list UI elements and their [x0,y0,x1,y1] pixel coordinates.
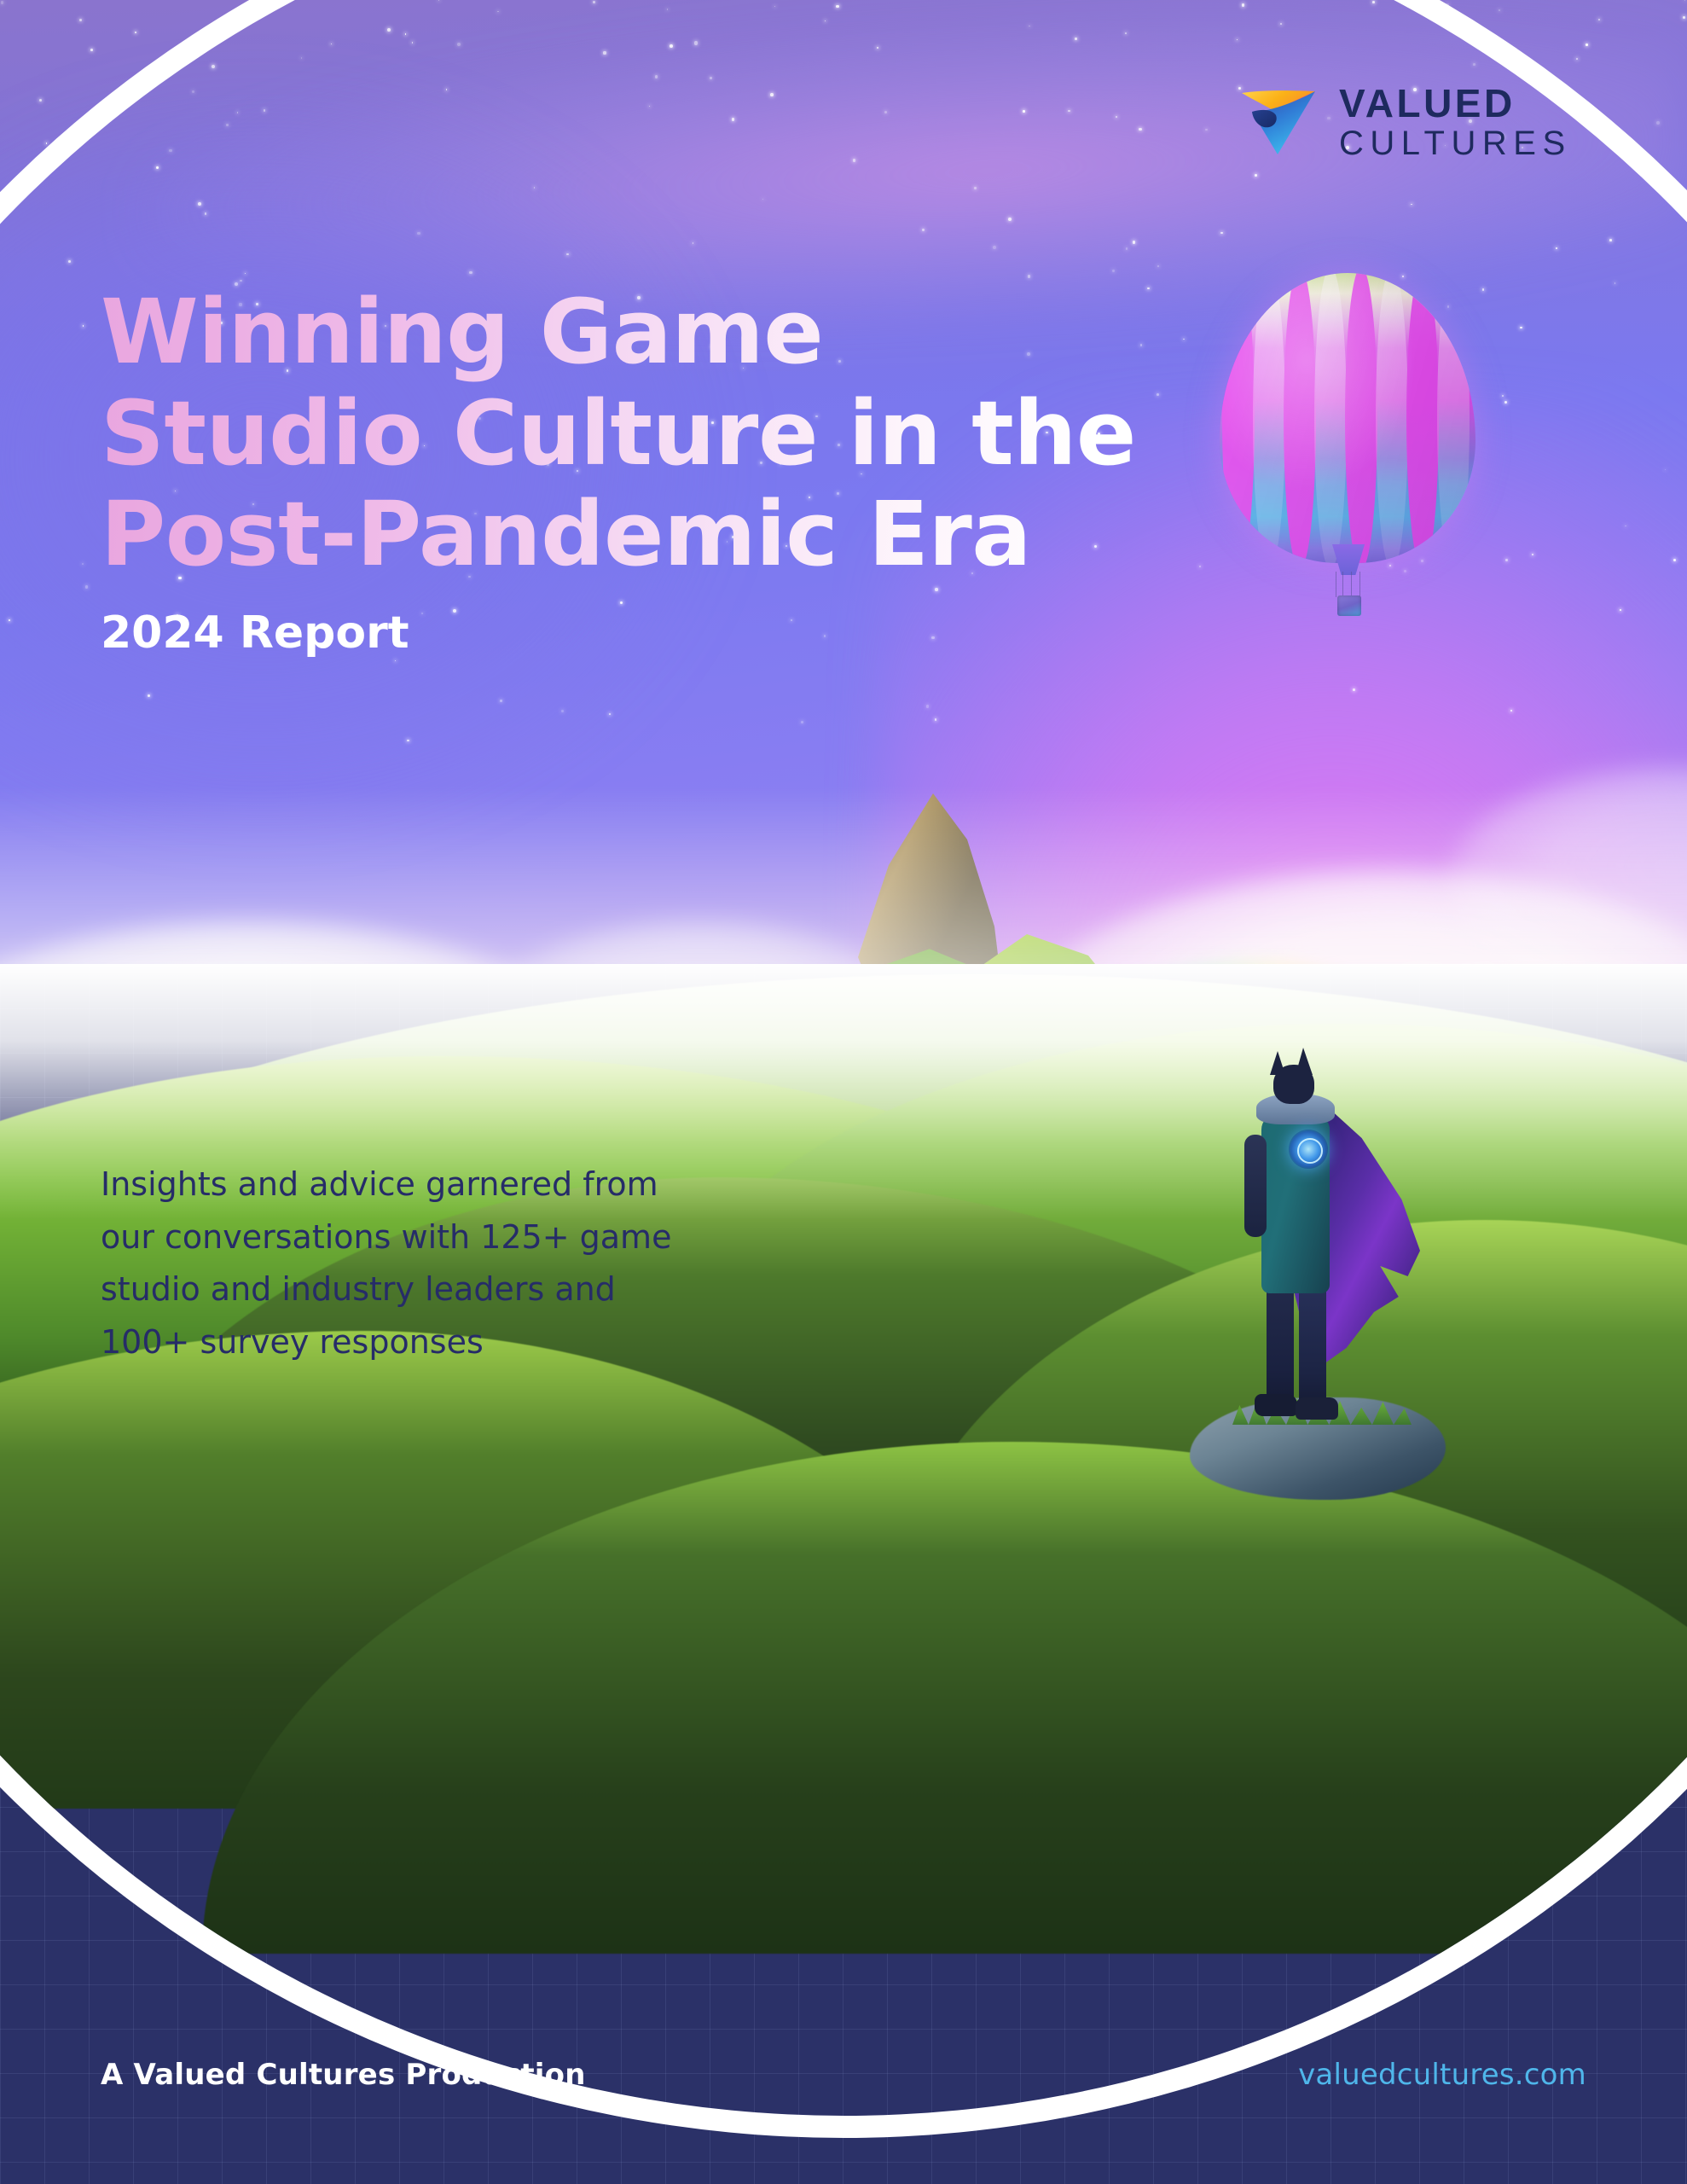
hero-character [1207,1041,1403,1570]
hero-boot-left [1255,1394,1297,1416]
logo-text-cultures: CULTURES [1339,126,1572,160]
page-title-line-3: Post-Pandemic Era [101,484,1312,585]
hero-boot-right [1296,1397,1338,1420]
cover-footer: A Valued Cultures Production valuedcultu… [0,2058,1687,2092]
hero-leg-right [1299,1281,1326,1411]
page-title-line-1: Winning Game [101,282,1312,383]
brand-logo[interactable]: VALUED CULTURES [1238,84,1572,160]
page-title-line-2: Studio Culture in the [101,383,1312,485]
hero-emblem-ring [1297,1138,1323,1164]
hero-head [1273,1065,1314,1104]
production-credit: A Valued Cultures Production [101,2058,586,2092]
cover-blurb: Insights and advice garnered from our co… [101,1159,698,1368]
valued-cultures-arrow-logo-icon [1238,86,1320,158]
hero-leg-left [1267,1280,1294,1408]
title-block: Winning Game Studio Culture in the Post-… [101,282,1312,659]
logo-text-valued: VALUED [1339,84,1572,123]
website-link[interactable]: valuedcultures.com [1298,2058,1586,2092]
report-cover: VALUED CULTURES Winning Game Studio Cult… [0,0,1687,2184]
navy-grid-panel [0,964,1687,2184]
green-hills [0,964,1687,2116]
report-subtitle: 2024 Report [101,607,1312,659]
hero-arm [1244,1135,1267,1237]
